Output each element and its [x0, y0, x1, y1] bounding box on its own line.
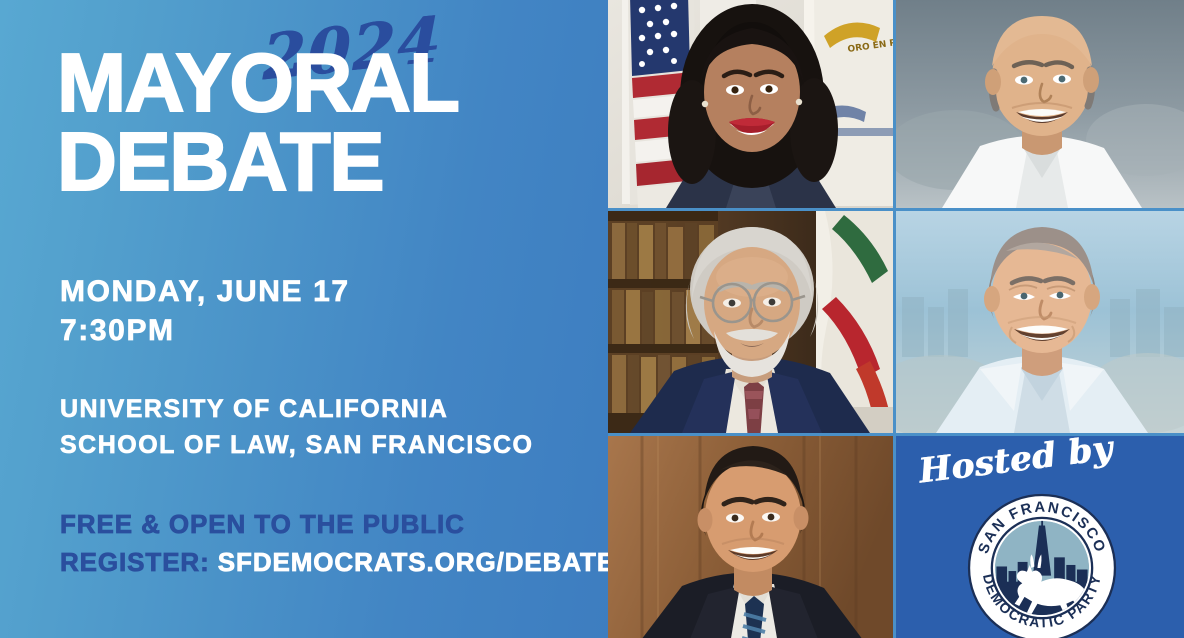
host-logo-panel: Hosted by [896, 436, 1184, 638]
venue-line-2: SCHOOL OF LAW, SAN FRANCISCO [60, 428, 600, 464]
headline-block: 2024 MAYORAL DEBATE [57, 50, 602, 196]
hosted-by-script-text: Hosted by [916, 436, 1114, 492]
event-details-block: MONDAY, JUNE 17 7:30PM UNIVERSITY OF CAL… [60, 272, 600, 463]
cta-register-url[interactable]: SFDEMOCRATS.ORG/DEBATE [218, 547, 612, 577]
photo-candidate-4-image [896, 211, 1184, 433]
photo-candidate-5-image [608, 436, 893, 638]
headline-debate: DEBATE [57, 129, 602, 195]
photo-candidate-1: ORO EN PAZ [608, 0, 893, 208]
photo-candidate-5 [608, 436, 893, 638]
venue-block: UNIVERSITY OF CALIFORNIA SCHOOL OF LAW, … [60, 392, 600, 463]
photo-candidate-3 [608, 211, 893, 433]
photo-candidate-2-image [896, 0, 1184, 208]
seal-icon: SAN FRANCISCO DEMOCRATIC PARTY [966, 492, 1118, 638]
candidate-photo-grid: ORO EN PAZ [608, 0, 1184, 638]
photo-candidate-2 [896, 0, 1184, 208]
cta-register-line: REGISTER: SFDEMOCRATS.ORG/DEBATE [60, 543, 605, 581]
photo-candidate-3-image [608, 211, 893, 433]
cta-block: FREE & OPEN TO THE PUBLIC REGISTER: SFDE… [60, 505, 605, 582]
photo-candidate-1-image: ORO EN PAZ [608, 0, 893, 208]
sf-democratic-party-seal: SAN FRANCISCO DEMOCRATIC PARTY [966, 492, 1118, 638]
cta-free-open: FREE & OPEN TO THE PUBLIC [60, 505, 605, 543]
event-date: MONDAY, JUNE 17 [60, 272, 600, 311]
cta-register-label: REGISTER: [60, 547, 210, 577]
left-info-panel: 2024 MAYORAL DEBATE MONDAY, JUNE 17 7:30… [0, 0, 612, 638]
photo-candidate-4 [896, 211, 1184, 433]
headline-mayoral: MAYORAL [57, 50, 602, 116]
poster-canvas: 2024 MAYORAL DEBATE MONDAY, JUNE 17 7:30… [0, 0, 1184, 638]
event-time: 7:30PM [60, 311, 600, 350]
venue-line-1: UNIVERSITY OF CALIFORNIA [60, 392, 600, 428]
